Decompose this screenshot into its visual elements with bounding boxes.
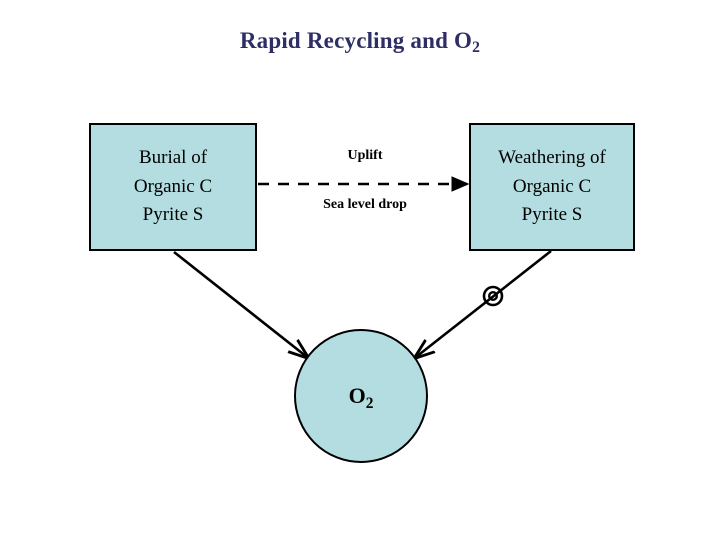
oxygen-circle[interactable]: O2 (294, 329, 428, 463)
oxygen-label-subscript: 2 (366, 395, 374, 412)
weathering-box-line-1: Weathering of (498, 144, 606, 173)
edge-burial-to-oxygen (174, 252, 307, 357)
oxygen-label-main: O (349, 383, 366, 408)
burial-box-line-2: Organic C (134, 173, 212, 202)
edge-weathering-to-oxygen (416, 251, 551, 357)
edge-label-sea-level-drop: Sea level drop (260, 197, 470, 213)
burial-box-line-1: Burial of (139, 144, 207, 173)
burial-box[interactable]: Burial of Organic C Pyrite S (89, 123, 257, 251)
oxygen-label: O2 (349, 383, 374, 409)
weathering-box-line-3: Pyrite S (522, 201, 583, 230)
weathering-box-line-2: Organic C (513, 173, 591, 202)
weathering-box[interactable]: Weathering of Organic C Pyrite S (469, 123, 635, 251)
edge-label-uplift: Uplift (260, 148, 470, 164)
burial-box-line-3: Pyrite S (143, 201, 204, 230)
